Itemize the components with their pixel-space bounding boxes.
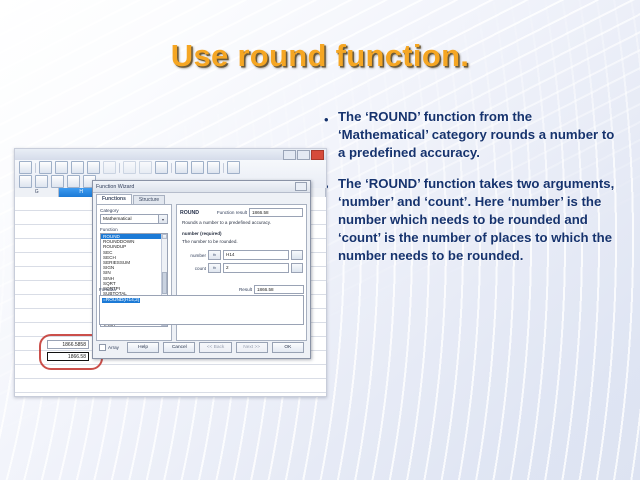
function-result-value: 1866.58 [249, 208, 303, 217]
help-button[interactable]: Help [127, 342, 159, 353]
chart-icon[interactable] [55, 161, 68, 174]
function-description: Rounds a number to a predefined accuracy… [182, 220, 303, 225]
sum-icon[interactable] [51, 175, 64, 188]
argument-description: The number to be rounded. [182, 239, 303, 244]
function-result-label: Function result [217, 210, 247, 215]
list-item: • The ‘ROUND’ function from the ‘Mathema… [324, 108, 624, 161]
formula-header: Formula Result 1866.58 [99, 285, 304, 294]
category-label: Category [100, 208, 168, 213]
merge-icon[interactable] [35, 175, 48, 188]
comment-icon[interactable] [207, 161, 220, 174]
ok-button[interactable]: OK [272, 342, 304, 353]
minimize-icon[interactable] [283, 150, 296, 160]
toolbar-row-two [19, 175, 96, 188]
indent-icon[interactable] [67, 175, 80, 188]
toolbar-divider [171, 163, 172, 173]
function-header: ROUND Function result 1866.58 [180, 208, 303, 217]
argument-label-number: number [180, 253, 206, 258]
formula-section: Formula Result 1866.58 =ROUND(H14;2) [99, 285, 304, 325]
bullet-list: • The ‘ROUND’ function from the ‘Mathema… [324, 108, 624, 279]
dialog-titlebar: Function Wizard [93, 181, 310, 193]
toolbar-divider [119, 163, 120, 173]
argument-row-count: count fx 2 [180, 263, 303, 273]
shrink-range-icon[interactable] [291, 250, 303, 260]
dialog-close-icon[interactable] [295, 182, 307, 191]
back-button[interactable]: << Back [199, 342, 231, 353]
cancel-button[interactable]: Cancel [163, 342, 195, 353]
argument-input-count[interactable]: 2 [223, 263, 289, 273]
category-value: Mathematical [101, 217, 158, 222]
function-result: Function result 1866.58 [217, 208, 303, 217]
grid-icon[interactable] [87, 161, 100, 174]
function-list-label: Function [100, 227, 168, 232]
bullet-text: The ‘ROUND’ function takes two arguments… [338, 175, 624, 264]
close-icon[interactable] [311, 150, 324, 160]
argument-required-label: number (required) [182, 231, 303, 236]
function-wizard-dialog: Function Wizard Functions Structure Cate… [92, 180, 311, 359]
result-value: 1866.58 [254, 285, 304, 294]
toolbar-row-one [19, 161, 240, 174]
list-item: • The ‘ROUND’ function takes two argumen… [324, 175, 624, 264]
argument-row-number: number fx H14 [180, 250, 303, 260]
page-title: Use round function. [0, 38, 640, 74]
image-icon[interactable] [71, 161, 84, 174]
toolbar-divider [35, 163, 36, 173]
formula-input[interactable]: =ROUND(H14;2) [99, 295, 304, 325]
maximize-icon[interactable] [297, 150, 310, 160]
sort-icon[interactable] [103, 161, 116, 174]
result-group: Result 1866.58 [239, 285, 304, 294]
column-header-g[interactable]: G [15, 188, 59, 197]
array-label: Array [108, 345, 119, 350]
shrink-range-icon[interactable] [291, 263, 303, 273]
result-label: Result [239, 287, 252, 292]
bullet-text: The ‘ROUND’ function from the ‘Mathemati… [338, 108, 624, 161]
next-button[interactable]: Next >> [236, 342, 268, 353]
argument-input-number[interactable]: H14 [223, 250, 289, 260]
checkbox-icon[interactable] [99, 344, 106, 351]
sort-asc-icon[interactable] [123, 161, 136, 174]
dialog-button-row: Array Help Cancel << Back Next >> OK [99, 342, 304, 353]
window-controls[interactable] [283, 150, 324, 160]
toolbar-divider [223, 163, 224, 173]
dialog-tabs[interactable]: Functions Structure [96, 195, 307, 204]
slide: Use round function. • The ‘ROUND’ functi… [0, 0, 640, 480]
tab-structure[interactable]: Structure [133, 195, 165, 204]
freeze-icon[interactable] [227, 161, 240, 174]
array-checkbox[interactable]: Array [99, 344, 119, 351]
formula-text: =ROUND(H14;2) [102, 298, 140, 303]
formula-label: Formula [99, 287, 116, 292]
zoom-icon[interactable] [19, 161, 32, 174]
sort-desc-icon[interactable] [139, 161, 152, 174]
function-name: ROUND [180, 210, 199, 216]
fx-icon[interactable]: fx [208, 263, 221, 273]
filter-icon[interactable] [155, 161, 168, 174]
argument-label-count: count [180, 266, 206, 271]
bold-icon[interactable] [19, 175, 32, 188]
embedded-screenshot: G H 1866.5858 1866.58 Function Wizard Fu [14, 148, 327, 397]
table-icon[interactable] [39, 161, 52, 174]
scroll-up-icon[interactable] [162, 234, 167, 239]
dialog-title: Function Wizard [96, 184, 134, 190]
fx-icon[interactable]: fx [208, 250, 221, 260]
dialog-body: Functions Structure Category Mathematica… [96, 195, 307, 355]
tab-functions[interactable]: Functions [96, 194, 132, 204]
spellcheck-icon[interactable] [191, 161, 204, 174]
print-icon[interactable] [175, 161, 188, 174]
chevron-down-icon[interactable]: ▾ [158, 215, 167, 223]
category-select[interactable]: Mathematical ▾ [100, 214, 168, 224]
